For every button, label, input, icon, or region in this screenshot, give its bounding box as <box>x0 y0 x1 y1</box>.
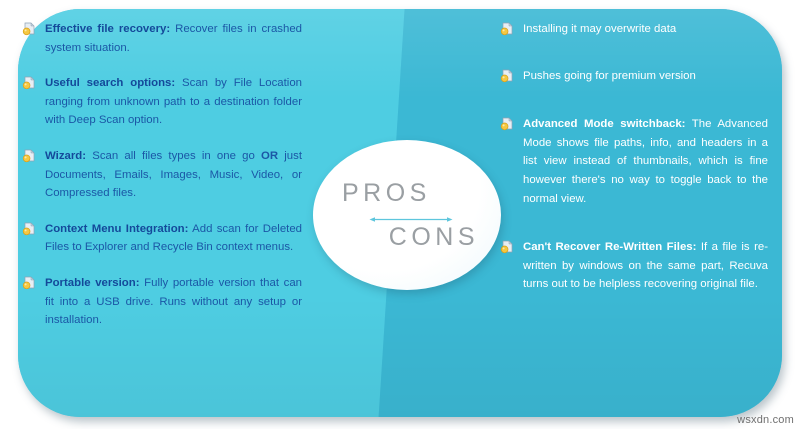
list-item-emphasis: OR <box>261 150 278 162</box>
gold-file-icon <box>500 117 514 131</box>
cons-list: Installing it may overwrite data Pushes … <box>500 20 768 294</box>
list-item: Effective file recovery: Recover files i… <box>22 20 302 57</box>
list-item-lead: Useful search options: <box>45 77 175 89</box>
list-item-lead: Can't Recover Re-Written Files: <box>523 241 696 253</box>
gold-file-icon <box>22 22 36 36</box>
badge-pros-label: PROS <box>342 181 431 206</box>
double-headed-arrow-icon <box>369 211 453 220</box>
list-item: Pushes going for premium version <box>500 67 768 86</box>
watermark: wsxdn.com <box>737 414 794 426</box>
badge-content: PROS CONS <box>313 140 501 290</box>
gold-file-icon <box>500 69 514 83</box>
list-item-lead: Context Menu Integration: <box>45 223 188 235</box>
pros-list: Effective file recovery: Recover files i… <box>22 20 302 330</box>
list-item-lead: Effective file recovery: <box>45 23 170 35</box>
gold-file-icon <box>22 76 36 90</box>
gold-file-icon <box>22 222 36 236</box>
pros-cons-badge: PROS CONS <box>313 140 501 290</box>
list-item-text: The Advanced Mode shows file paths, info… <box>523 118 768 204</box>
list-item-lead: Advanced Mode switchback: <box>523 118 685 130</box>
list-item-lead: Portable version: <box>45 277 140 289</box>
list-item: Portable version: Fully portable version… <box>22 274 302 330</box>
list-item-text: Installing it may overwrite data <box>523 23 676 35</box>
list-item-lead: Wizard: <box>45 150 86 162</box>
list-item-text: Pushes going for premium version <box>523 70 696 82</box>
gold-file-icon <box>500 22 514 36</box>
list-item: Installing it may overwrite data <box>500 20 768 39</box>
list-item: Useful search options: Scan by File Loca… <box>22 74 302 130</box>
gold-file-icon <box>22 149 36 163</box>
list-item: Can't Recover Re-Written Files: If a fil… <box>500 238 768 294</box>
badge-cons-label: CONS <box>389 225 479 250</box>
list-item-text: Scan all files types in one go <box>86 150 261 162</box>
list-item: Context Menu Integration: Add scan for D… <box>22 220 302 257</box>
gold-file-icon <box>500 240 514 254</box>
list-item: Wizard: Scan all files types in one go O… <box>22 147 302 203</box>
infographic-canvas: Effective file recovery: Recover files i… <box>0 0 800 429</box>
list-item: Advanced Mode switchback: The Advanced M… <box>500 115 768 208</box>
gold-file-icon <box>22 276 36 290</box>
